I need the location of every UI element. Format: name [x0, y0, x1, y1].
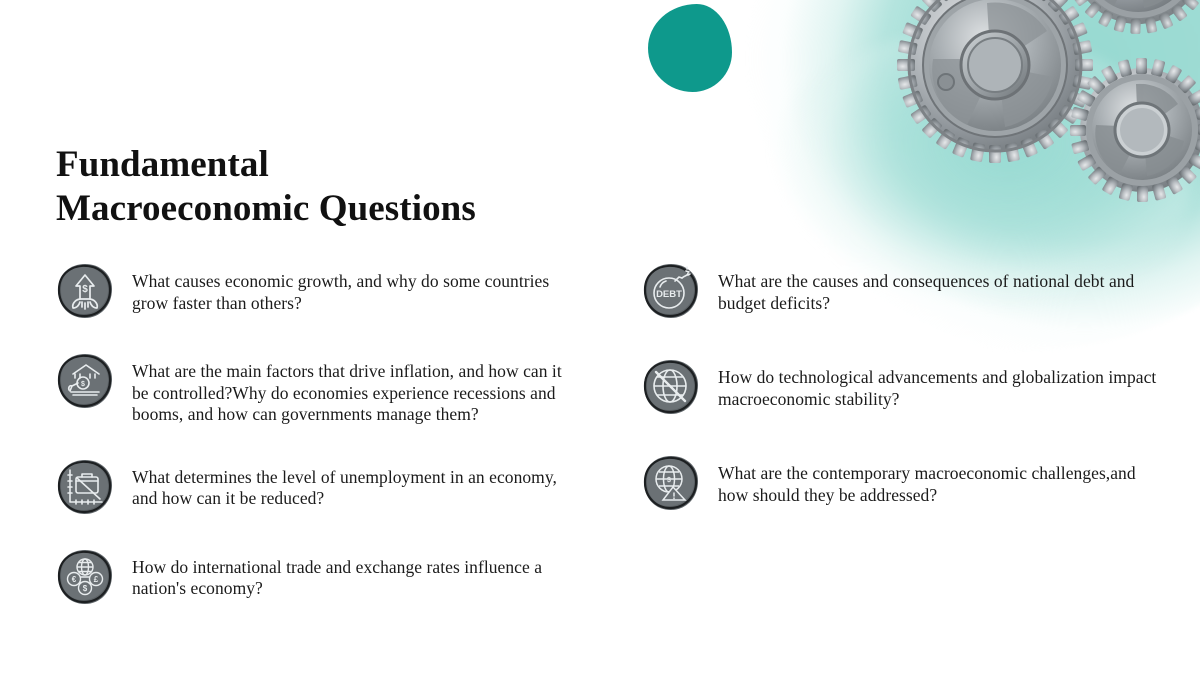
svg-text:€: € [72, 575, 77, 584]
list-item[interactable]: $ What are the main factors that drive i… [56, 352, 596, 426]
svg-text:$: $ [82, 284, 88, 295]
list-item[interactable]: € £ $ How do international trade and exc… [56, 548, 596, 606]
debt-bomb-icon: DEBT [642, 262, 700, 320]
rocket-growth-dollar-icon: $ [56, 262, 114, 320]
list-item[interactable]: $ What are the contemporary macroeconomi… [642, 454, 1162, 512]
svg-text:$: $ [83, 584, 88, 593]
briefcase-unemployment-chart-icon [56, 458, 114, 516]
list-item-label: What are the main factors that drive inf… [132, 352, 572, 426]
globe-slash-globalization-icon [642, 358, 700, 416]
list-item-label: What are the causes and consequences of … [718, 262, 1158, 314]
list-item-label: How do technological advancements and gl… [718, 358, 1158, 410]
slide-canvas: Fundamental Macroeconomic Questions $ [0, 0, 1200, 675]
questions-column-right: DEBT What are the causes and consequence… [642, 262, 1162, 540]
title-line-1: Fundamental [56, 144, 269, 185]
title-line-2: Macroeconomic Questions [56, 187, 676, 231]
page-title: Fundamental Macroeconomic Questions [56, 143, 676, 231]
list-item[interactable]: $ What causes economic growth, and why d… [56, 262, 596, 320]
globe-warning-challenges-icon: $ [642, 454, 700, 512]
svg-text:$: $ [667, 477, 671, 484]
list-item[interactable]: DEBT What are the causes and consequence… [642, 262, 1162, 320]
svg-text:£: £ [94, 575, 99, 584]
list-item-label: What are the contemporary macroeconomic … [718, 454, 1158, 506]
svg-text:$: $ [81, 381, 85, 388]
list-item-label: How do international trade and exchange … [132, 548, 572, 600]
list-item-label: What causes economic growth, and why do … [132, 262, 572, 314]
globe-currency-exchange-icon: € £ $ [56, 548, 114, 606]
teal-blob-shape [648, 4, 732, 92]
list-item[interactable]: How do technological advancements and gl… [642, 358, 1162, 416]
gears-image [880, 0, 1200, 240]
bank-inflation-hand-icon: $ [56, 352, 114, 410]
list-item[interactable]: What determines the level of unemploymen… [56, 458, 596, 516]
debt-icon-label: DEBT [656, 289, 682, 300]
questions-column-left: $ What causes economic growth, and why d… [56, 262, 596, 626]
list-item-label: What determines the level of unemploymen… [132, 458, 572, 510]
